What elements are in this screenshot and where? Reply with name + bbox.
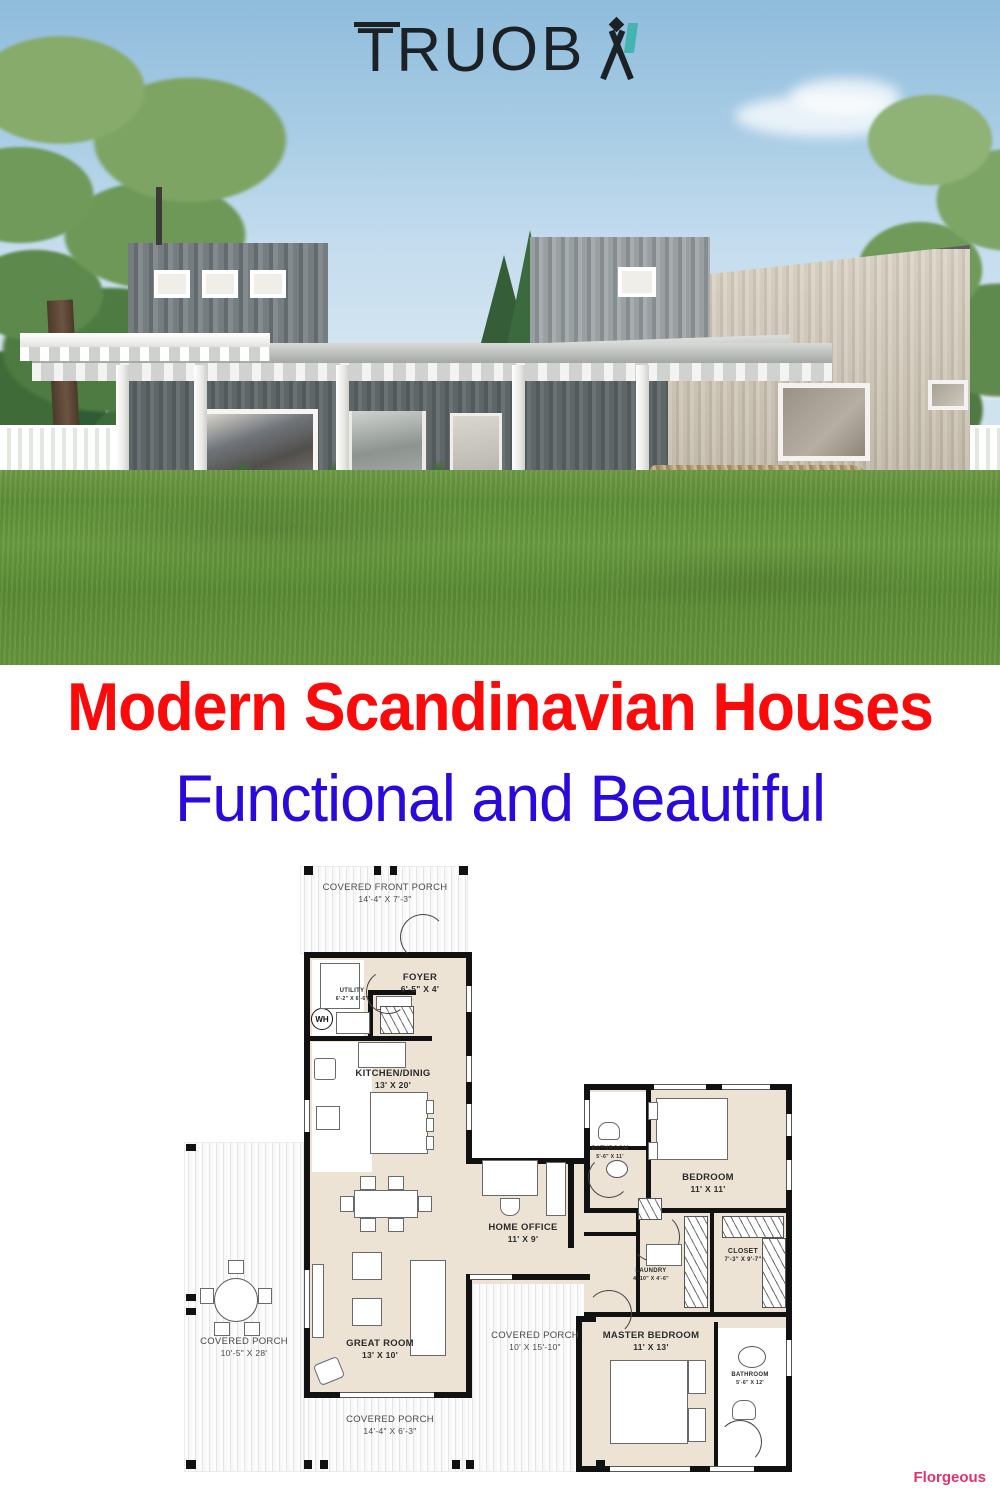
- water-heater-icon: WH: [311, 1008, 333, 1030]
- armchair: [352, 1252, 382, 1280]
- window: [584, 1100, 590, 1128]
- armchair: [352, 1298, 382, 1326]
- porch-post: [186, 1144, 196, 1151]
- porch-post: [374, 866, 381, 875]
- porch-chair: [228, 1260, 244, 1274]
- sink: [316, 1106, 340, 1130]
- window: [710, 1466, 754, 1472]
- window: [340, 1392, 434, 1398]
- window: [722, 1084, 770, 1090]
- porch-chair: [214, 1322, 230, 1336]
- porch-round-table: [214, 1278, 258, 1322]
- office-desk: [482, 1160, 538, 1196]
- front-lawn: [0, 470, 1000, 665]
- door-swing: [718, 1420, 762, 1464]
- label-covered-porch-bottom: COVERED PORCH 14'-4" X 6'-3": [320, 1414, 460, 1437]
- door-swing: [588, 1156, 630, 1198]
- window: [466, 986, 472, 1012]
- clerestory-window: [250, 270, 286, 298]
- window: [786, 1114, 792, 1136]
- upper-cabinet: [358, 1042, 406, 1068]
- label-foyer: FOYER 6'-5" X 4': [380, 972, 460, 995]
- bed-guest: [656, 1098, 728, 1160]
- bed-master: [610, 1360, 688, 1444]
- porch-chair: [200, 1288, 214, 1304]
- washer-dryer-unit: [646, 1244, 682, 1266]
- closet-shelf-hatch: [722, 1216, 784, 1238]
- chimney-flue: [156, 187, 162, 245]
- office-shelf: [546, 1162, 566, 1216]
- island-stool: [426, 1136, 434, 1150]
- dining-table: [354, 1190, 418, 1218]
- middle-window: [618, 267, 656, 297]
- wall: [786, 1084, 792, 1212]
- headline-secondary: Functional and Beautiful: [25, 765, 975, 831]
- label-bathroom-1: BATHROOM 5'-6" X 11': [578, 1146, 642, 1160]
- headline-primary: Modern Scandinavian Houses: [40, 673, 960, 741]
- wall: [304, 952, 472, 958]
- fireplace: [312, 1264, 324, 1338]
- dining-chair: [360, 1176, 376, 1190]
- label-covered-porch-left: COVERED PORCH 10'-5" X 28': [184, 1336, 304, 1359]
- label-laundry: LAUNDRY 4'-10" X 4'-6": [620, 1268, 682, 1282]
- window: [786, 1160, 792, 1190]
- island-stool: [426, 1100, 434, 1114]
- porch-post: [459, 866, 468, 875]
- porch-post: [186, 1294, 196, 1301]
- porch-post: [390, 866, 397, 875]
- truoba-logo: TRUOB: [0, 14, 1000, 86]
- window: [304, 1100, 310, 1132]
- roof-chevron-a-icon: [590, 21, 644, 79]
- label-kitchen-dining: KITCHEN/DINIG 13' X 20': [338, 1068, 448, 1091]
- right-wing-small-window: [928, 380, 968, 410]
- label-covered-porch-middle: COVERED PORCH 10' X 15'-10": [470, 1330, 600, 1353]
- hero-photo: [0, 0, 1000, 665]
- wall-interior: [372, 1036, 432, 1041]
- clerestory-window: [154, 270, 190, 298]
- dining-chair: [360, 1218, 376, 1232]
- porch-post: [452, 1460, 460, 1469]
- window: [654, 1084, 706, 1090]
- master-bath-sink: [738, 1346, 766, 1368]
- porch-chair: [244, 1322, 260, 1336]
- porch-post: [186, 1308, 196, 1315]
- office-chair: [500, 1198, 520, 1216]
- porch-post: [186, 1460, 196, 1469]
- label-bedroom: BEDROOM 11' X 11': [660, 1172, 756, 1195]
- title-block: Modern Scandinavian Houses Functional an…: [0, 665, 1000, 860]
- nightstand: [648, 1102, 658, 1120]
- wall-interior: [714, 1322, 718, 1470]
- label-bathroom-2: BATHROOM 5'-6" X 12': [718, 1372, 782, 1386]
- nightstand: [688, 1360, 706, 1394]
- wall-interior: [584, 1208, 792, 1213]
- window: [470, 1274, 512, 1280]
- closet-rod: [684, 1216, 708, 1308]
- kitchen-island: [370, 1092, 428, 1154]
- porch-post: [596, 1460, 605, 1469]
- pergola-slats: [20, 347, 270, 361]
- toilet: [598, 1122, 620, 1140]
- dining-chair: [418, 1196, 432, 1212]
- house-structure: [90, 215, 970, 505]
- label-utility: UTILITY 6'-2" X 6'-6": [322, 988, 382, 1002]
- island-stool: [426, 1118, 434, 1132]
- window: [786, 1340, 792, 1376]
- cooktop: [314, 1058, 336, 1080]
- floor-plan-diagram: WH W/D: [170, 860, 810, 1490]
- dining-chair: [388, 1218, 404, 1232]
- dining-chair: [388, 1176, 404, 1190]
- label-great-room: GREAT ROOM 13' X 10': [325, 1338, 435, 1361]
- closet-hatch: [638, 1198, 662, 1220]
- label-closet: CLOSET 7'-3" X 9'-7": [710, 1248, 776, 1264]
- porch-post: [466, 1460, 474, 1469]
- label-home-office: HOME OFFICE 11' X 9': [468, 1222, 578, 1245]
- roof-rafters: [32, 363, 832, 381]
- right-wing-picture-window: [778, 383, 870, 461]
- window: [466, 1104, 472, 1130]
- nightstand: [688, 1408, 706, 1442]
- logo-text-oba: OB: [490, 19, 586, 81]
- label-master-bedroom: MASTER BEDROOM 11' X 13': [588, 1330, 714, 1353]
- utility-counter: [336, 1012, 370, 1034]
- toilet: [732, 1400, 756, 1420]
- logo-text-tru: TRU: [356, 18, 489, 82]
- nightstand: [648, 1142, 658, 1160]
- label-covered-front-porch: COVERED FRONT PORCH 14'-4" X 7'-3": [320, 882, 450, 905]
- porch-post: [304, 1460, 312, 1469]
- porch-post: [304, 866, 313, 875]
- site-watermark: Florgeous: [913, 1469, 986, 1486]
- window: [610, 1466, 690, 1472]
- porch-chair: [258, 1288, 272, 1304]
- utility-fixture: [320, 963, 360, 1009]
- window: [466, 1056, 472, 1082]
- wall-interior: [584, 1232, 636, 1236]
- front-door-swing: [400, 914, 446, 960]
- bath1-upper: [588, 1092, 650, 1150]
- window: [304, 1270, 310, 1328]
- clerestory-window: [202, 270, 238, 298]
- wall: [304, 952, 310, 1398]
- dining-chair: [340, 1196, 354, 1212]
- wall-interior: [310, 1036, 374, 1041]
- porch-post: [320, 1460, 328, 1469]
